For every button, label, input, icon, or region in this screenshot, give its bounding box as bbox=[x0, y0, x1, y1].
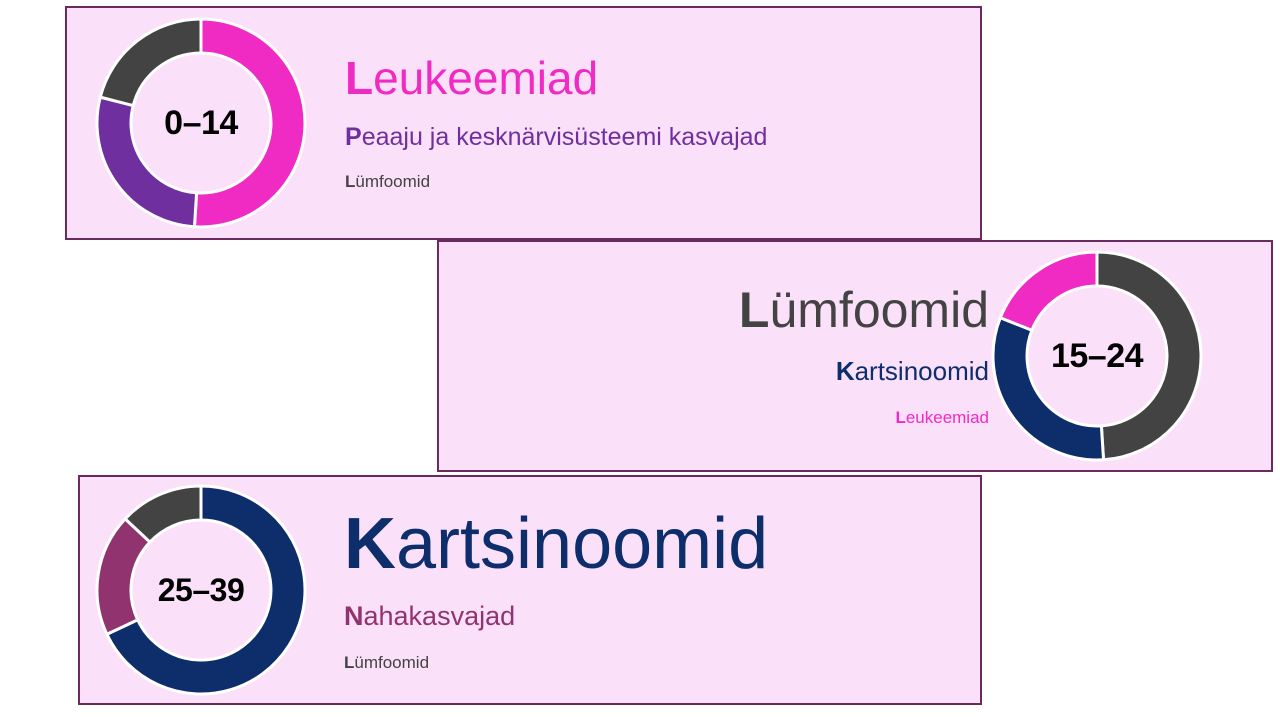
donut-segment[interactable] bbox=[100, 19, 201, 106]
rank-1-rest: artsinoomid bbox=[396, 504, 768, 584]
donut-segment[interactable] bbox=[1097, 252, 1201, 460]
donut-chart-25-39[interactable]: 25–39 bbox=[93, 482, 309, 698]
rank-2-label: Peaaju ja kesknärvisüsteemi kasvajad bbox=[345, 122, 767, 152]
rank-1-label: Kartsinoomid bbox=[344, 507, 768, 583]
rank-3-initial: L bbox=[344, 653, 354, 672]
ranking-list-15-24: Lümfoomid Kartsinoomid Leukeemiad bbox=[439, 284, 989, 428]
age-group-panel-15-24: 15–24 Lümfoomid Kartsinoomid Leukeemiad bbox=[437, 240, 1273, 472]
donut-chart-svg bbox=[93, 482, 309, 698]
age-group-panel-25-39: 25–39 Kartsinoomid Nahakasvajad Lümfoomi… bbox=[78, 475, 982, 705]
donut-segment[interactable] bbox=[1000, 252, 1097, 330]
donut-chart-0-14[interactable]: 0–14 bbox=[93, 15, 309, 231]
rank-2-label: Kartsinoomid bbox=[836, 356, 989, 387]
donut-chart-svg bbox=[989, 248, 1205, 464]
rank-1-initial: K bbox=[344, 504, 396, 584]
rank-2-initial: K bbox=[836, 356, 855, 386]
rank-3-label: Leukeemiad bbox=[895, 408, 989, 428]
ranking-list-25-39: Kartsinoomid Nahakasvajad Lümfoomid bbox=[309, 507, 980, 673]
rank-3-initial: L bbox=[345, 172, 355, 191]
rank-2-initial: P bbox=[345, 123, 362, 151]
rank-3-rest: ümfoomid bbox=[355, 172, 430, 191]
rank-2-initial: N bbox=[344, 601, 364, 631]
donut-segment[interactable] bbox=[194, 19, 305, 227]
rank-2-rest: eaaju ja kesknärvisüsteemi kasvajad bbox=[362, 123, 768, 151]
rank-3-rest: eukeemiad bbox=[906, 408, 989, 427]
donut-chart-svg bbox=[93, 15, 309, 231]
rank-2-rest: artsinoomid bbox=[855, 356, 989, 386]
rank-1-rest: ümfoomid bbox=[769, 282, 989, 338]
rank-1-label: Leukeemiad bbox=[345, 54, 598, 102]
rank-2-label: Nahakasvajad bbox=[344, 600, 515, 632]
age-group-panel-0-14: 0–14 Leukeemiad Peaaju ja kesknärvisüste… bbox=[65, 6, 982, 240]
rank-1-initial: L bbox=[739, 282, 770, 338]
donut-segment[interactable] bbox=[97, 97, 197, 227]
rank-2-rest: ahakasvajad bbox=[364, 601, 516, 631]
rank-1-initial: L bbox=[345, 52, 373, 104]
rank-1-rest: eukeemiad bbox=[373, 52, 598, 104]
rank-3-label: Lümfoomid bbox=[344, 653, 429, 673]
rank-1-label: Lümfoomid bbox=[739, 284, 989, 337]
rank-3-rest: ümfoomid bbox=[354, 653, 429, 672]
ranking-list-0-14: Leukeemiad Peaaju ja kesknärvisüsteemi k… bbox=[309, 54, 980, 193]
donut-segment[interactable] bbox=[993, 318, 1104, 460]
rank-3-label: Lümfoomid bbox=[345, 172, 430, 192]
rank-3-initial: L bbox=[895, 408, 905, 427]
slide-canvas: 0–14 Leukeemiad Peaaju ja kesknärvisüste… bbox=[0, 0, 1280, 720]
donut-chart-15-24[interactable]: 15–24 bbox=[989, 248, 1205, 464]
